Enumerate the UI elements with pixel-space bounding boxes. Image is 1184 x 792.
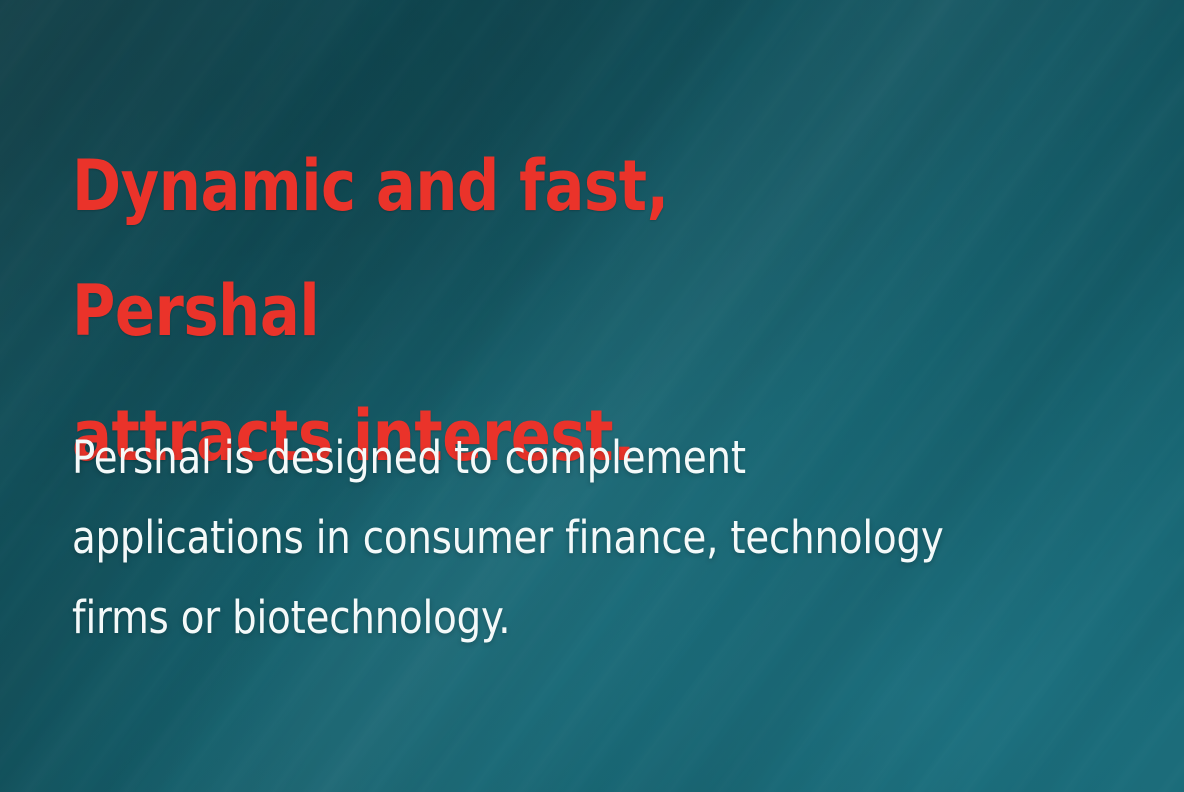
slide-content: Dynamic and fast, Pershal attracts inter… [72,0,1112,792]
presentation-slide: Dynamic and fast, Pershal attracts inter… [0,0,1184,792]
slide-body-text: Pershal is designed to complement applic… [72,418,1087,658]
